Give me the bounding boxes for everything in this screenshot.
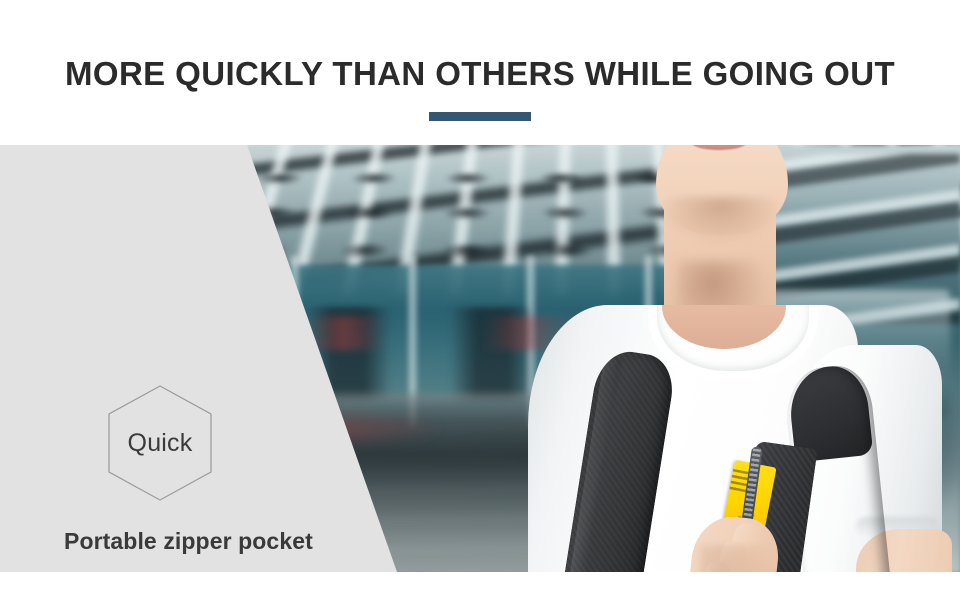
page-title: MORE QUICKLY THAN OTHERS WHILE GOING OUT bbox=[0, 55, 960, 93]
feature-title: Portable zipper pocket bbox=[64, 528, 313, 555]
title-underline-rule bbox=[429, 112, 531, 121]
banner-header: MORE QUICKLY THAN OTHERS WHILE GOING OUT bbox=[0, 0, 960, 145]
product-feature-banner: MORE QUICKLY THAN OTHERS WHILE GOING OUT bbox=[0, 0, 960, 592]
jaw-shadow bbox=[660, 197, 782, 243]
hand-shading bbox=[700, 545, 774, 572]
hexagon-badge-label: Quick bbox=[108, 385, 212, 501]
footer-white-strip bbox=[0, 572, 960, 592]
feature-copy-panel: Quick Portable zipper pocket It is conve… bbox=[0, 145, 400, 572]
